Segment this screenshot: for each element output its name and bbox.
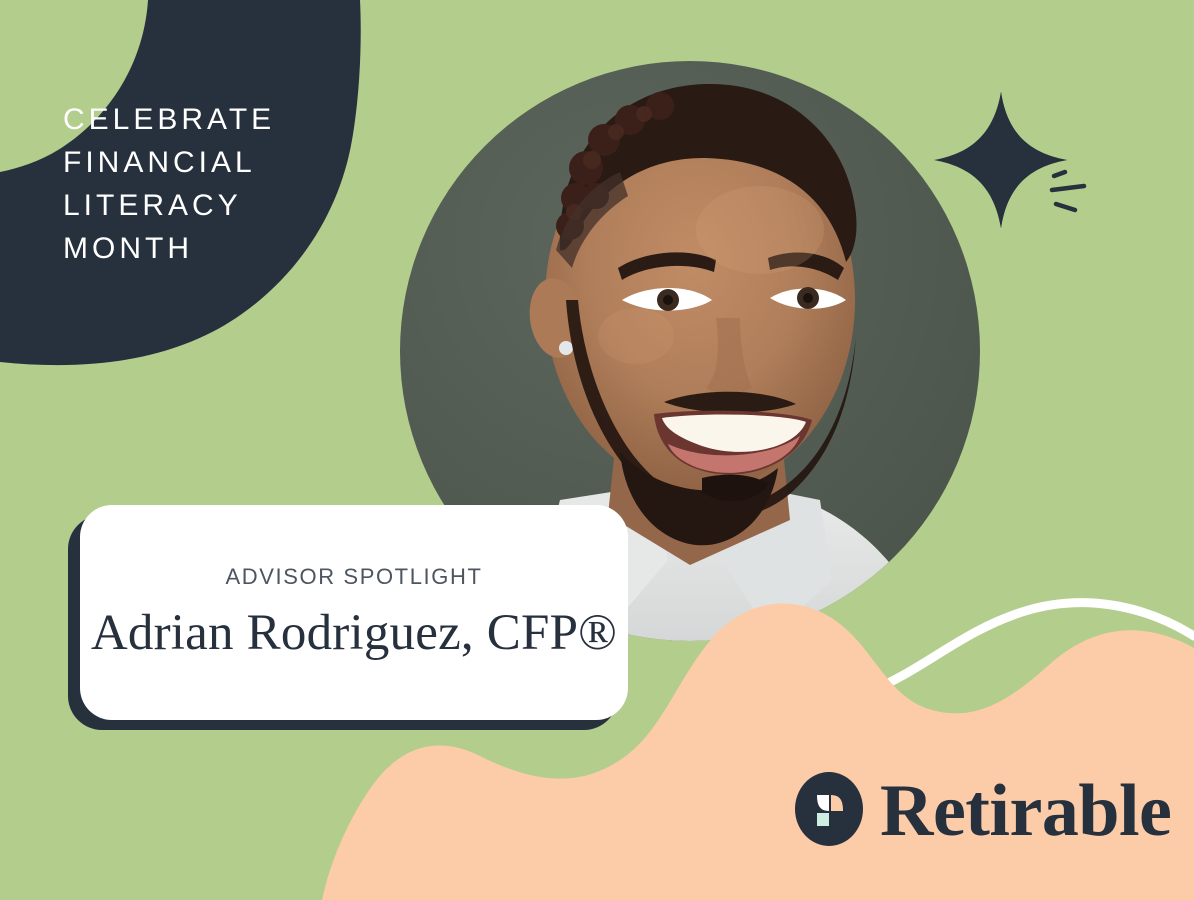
- brand-lockup: Retirable: [795, 772, 1171, 846]
- retirable-logo-mark: [795, 772, 863, 846]
- four-point-sparkle: [934, 92, 1067, 228]
- poster-canvas: CELEBRATE FINANCIAL LITERACY MONTH ADVIS…: [0, 0, 1194, 900]
- page-title: CELEBRATE FINANCIAL LITERACY MONTH: [63, 98, 363, 270]
- card-eyebrow-label: ADVISOR SPOTLIGHT: [225, 564, 482, 590]
- sparkle-motion-lines: [1052, 172, 1084, 210]
- brand-wordmark: Retirable: [880, 774, 1171, 848]
- advisor-spotlight-card: ADVISOR SPOTLIGHT Adrian Rodriguez, CFP®: [80, 505, 628, 720]
- advisor-name: Adrian Rodriguez, CFP®: [91, 604, 617, 662]
